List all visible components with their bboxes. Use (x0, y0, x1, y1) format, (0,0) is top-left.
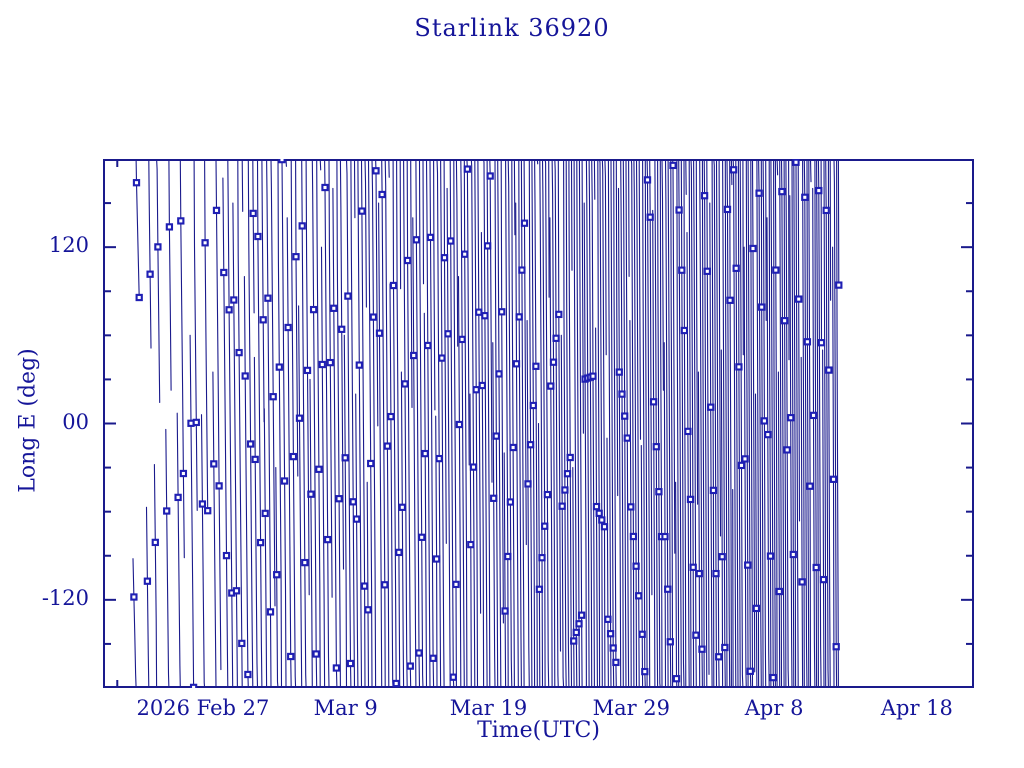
chart-canvas: Starlink 36920 Long E (deg) Time(UTC) 12… (0, 0, 1024, 768)
data-plot (103, 159, 974, 688)
y-tick-label: -120 (0, 586, 89, 610)
y-tick-label: 00 (0, 410, 89, 434)
plot-area (103, 159, 974, 688)
x-tick-label: Apr 18 (807, 696, 1024, 720)
series-long-e (133, 159, 839, 688)
y-tick-label: 120 (0, 233, 89, 257)
chart-title: Starlink 36920 (0, 14, 1024, 42)
x-axis-title: Time(UTC) (103, 718, 974, 743)
